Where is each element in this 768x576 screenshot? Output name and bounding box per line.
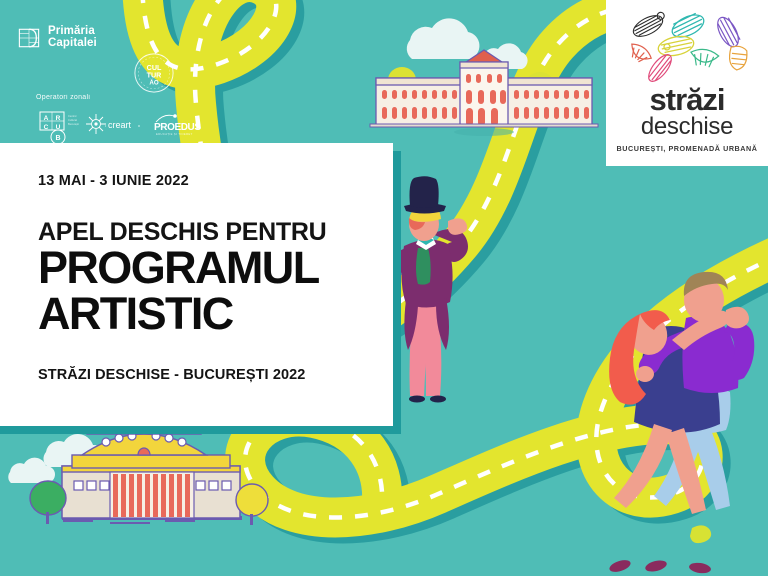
primaria-capitalei-label: Primăria Capitalei bbox=[48, 26, 97, 49]
primaria-line1: Primăria bbox=[48, 26, 97, 38]
main-text-card: 13 MAI - 3 IUNIE 2022 APEL DESCHIS PENTR… bbox=[0, 143, 393, 426]
strazi-deschise-badge: străzi deschise BUCUREȘTI, PROMENADĂ URB… bbox=[606, 0, 768, 166]
svg-text:Centrul: Centrul bbox=[68, 114, 77, 118]
colored-footprints-icon bbox=[620, 10, 754, 84]
proedus-logo-icon: PROEDUS EDUCAȚIE ȘI TINERET bbox=[154, 114, 201, 136]
primaria-line2: Capitalei bbox=[48, 38, 97, 50]
primaria-capitalei-mark-icon bbox=[18, 27, 40, 49]
svg-text:PROEDUS: PROEDUS bbox=[154, 122, 201, 133]
sponsor-logos: Primăria Capitalei CUL TUR ĂO Operatori … bbox=[18, 26, 208, 126]
svg-text:TUR: TUR bbox=[147, 71, 163, 79]
badge-strazi-word: străzi bbox=[606, 84, 768, 115]
headline-line-3: ARTISTIC bbox=[38, 291, 393, 337]
event-subline: STRĂZI DESCHISE - BUCUREȘTI 2022 bbox=[38, 367, 393, 383]
poster-canvas: Primăria Capitalei CUL TUR ĂO Operatori … bbox=[0, 0, 768, 576]
svg-text:B: B bbox=[55, 135, 60, 142]
svg-text:Cultural: Cultural bbox=[68, 118, 77, 122]
arcub-logo-icon: A R C U B Centrul Cultural București bbox=[40, 112, 79, 144]
svg-text:București: București bbox=[68, 122, 79, 126]
svg-text:ĂO: ĂO bbox=[149, 79, 158, 86]
svg-text:EDUCAȚIE ȘI TINERET: EDUCAȚIE ȘI TINERET bbox=[156, 132, 193, 136]
event-dates: 13 MAI - 3 IUNIE 2022 bbox=[38, 173, 393, 189]
svg-text:R: R bbox=[56, 115, 61, 122]
headline-line-2: PROGRAMUL bbox=[38, 245, 393, 291]
svg-text:creart: creart bbox=[108, 120, 132, 130]
operator-logos: A R C U B Centrul Cultural București cre… bbox=[34, 110, 214, 146]
operators-label: Operatori zonali bbox=[36, 94, 90, 101]
svg-text:C: C bbox=[44, 124, 49, 131]
primaria-capitalei-logo: Primăria Capitalei bbox=[18, 26, 208, 49]
cultura-stamp-icon: CUL TUR ĂO bbox=[133, 52, 175, 94]
badge-deschise-word: deschise bbox=[606, 115, 768, 139]
svg-text:A: A bbox=[44, 115, 49, 122]
creart-logo-icon: creart bbox=[86, 114, 140, 134]
badge-tagline: BUCUREȘTI, PROMENADĂ URBANĂ bbox=[606, 145, 768, 153]
